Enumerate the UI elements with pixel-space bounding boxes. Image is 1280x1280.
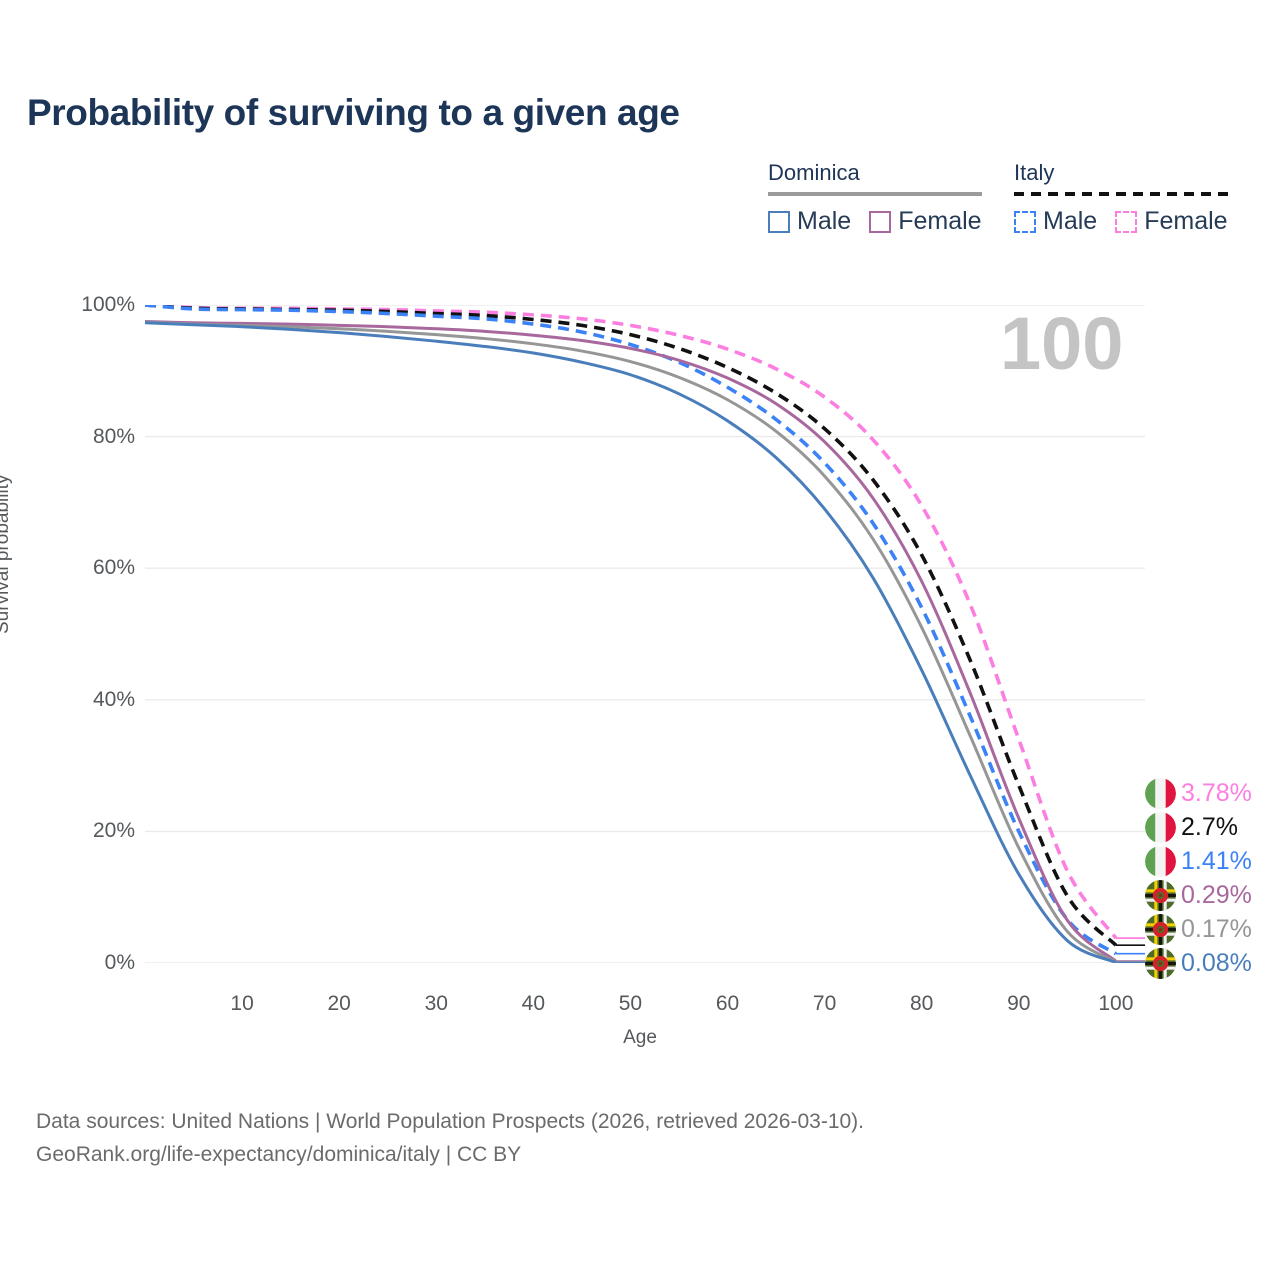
legend-group-italy: Italy Male Female <box>1014 160 1228 236</box>
series-line-dominica-male <box>145 323 1116 963</box>
series-end-labels: 3.78%2.7%1.41%0.29%0.17%0.08% <box>1145 770 1280 985</box>
legend-item-dominica-female[interactable]: Female <box>869 207 981 236</box>
series-line-italy-total <box>145 305 1116 945</box>
legend-swatch-icon-italy-female <box>1115 211 1137 233</box>
x-axis-tick-label: 60 <box>716 992 739 1016</box>
dominica-flag-icon <box>1145 880 1176 911</box>
x-axis-tick-label: 30 <box>425 992 448 1016</box>
y-axis-tick-label: 40% <box>25 688 135 712</box>
y-axis-tick-label: 80% <box>25 425 135 449</box>
page-title: Probability of surviving to a given age <box>27 92 680 134</box>
x-axis-tick-label: 10 <box>230 992 253 1016</box>
legend-item-label: Female <box>898 207 981 236</box>
x-axis-tick-label: 100 <box>1098 992 1133 1016</box>
end-label-value: 0.17% <box>1181 915 1252 944</box>
legend-group-dominica: Dominica Male Female <box>768 160 982 236</box>
legend-swatch-icon-dominica-female <box>869 211 891 233</box>
italy-flag-icon <box>1145 812 1176 843</box>
end-label-row: 0.29% <box>1145 878 1252 912</box>
y-axis-tick-label: 0% <box>25 951 135 975</box>
leader-line-dominica-female <box>1116 895 1145 961</box>
footer-line-sources: Data sources: United Nations | World Pop… <box>36 1106 864 1139</box>
x-axis-tick-label: 40 <box>522 992 545 1016</box>
leader-line-italy-total <box>1116 827 1145 945</box>
end-label-value: 0.08% <box>1181 949 1252 978</box>
end-label-value: 2.7% <box>1181 813 1238 842</box>
end-label-row: 2.7% <box>1145 810 1238 844</box>
legend-country-label-dominica: Dominica <box>768 160 982 189</box>
legend-swatch-icon-dominica-male <box>768 211 790 233</box>
end-label-row: 0.17% <box>1145 912 1252 946</box>
end-label-value: 3.78% <box>1181 779 1252 808</box>
italy-flag-icon <box>1145 846 1176 877</box>
leader-line-dominica-male <box>1116 963 1145 964</box>
legend-swatch-icon-italy-male <box>1014 211 1036 233</box>
dominica-flag-icon <box>1145 914 1176 945</box>
series-line-italy-male <box>145 305 1116 954</box>
italy-flag-icon <box>1145 778 1176 809</box>
legend-item-label: Male <box>1043 207 1097 236</box>
x-axis-tick-label: 80 <box>910 992 933 1016</box>
legend-item-dominica-male[interactable]: Male <box>768 207 851 236</box>
legend-rule-italy <box>1014 192 1228 196</box>
end-label-value: 1.41% <box>1181 847 1252 876</box>
watermark-label: 100 <box>1000 307 1123 381</box>
end-label-row: 0.08% <box>1145 946 1252 980</box>
series-line-italy-female <box>145 305 1116 938</box>
x-axis-title: Age <box>0 1027 1280 1049</box>
end-label-value: 0.29% <box>1181 881 1252 910</box>
x-axis-tick-label: 20 <box>327 992 350 1016</box>
legend-item-italy-male[interactable]: Male <box>1014 207 1097 236</box>
legend-item-label: Female <box>1144 207 1227 236</box>
footer-note: Data sources: United Nations | World Pop… <box>36 1106 864 1171</box>
y-axis-tick-label: 100% <box>25 293 135 317</box>
dominica-flag-icon <box>1145 948 1176 979</box>
leader-line-italy-female <box>1116 793 1145 938</box>
x-axis-tick-label: 70 <box>813 992 836 1016</box>
y-axis-tick-label: 60% <box>25 556 135 580</box>
y-axis-tick-label: 20% <box>25 819 135 843</box>
x-axis-tick-label: 90 <box>1007 992 1030 1016</box>
plot-area: 100 <box>145 305 1145 963</box>
chart-page: Probability of surviving to a given age … <box>0 0 1280 1280</box>
end-label-row: 3.78% <box>1145 776 1252 810</box>
x-axis-tick-label: 50 <box>619 992 642 1016</box>
leader-line-italy-male <box>1116 861 1145 954</box>
survival-curves-plot <box>145 305 1145 963</box>
end-label-row: 1.41% <box>1145 844 1252 878</box>
footer-line-attribution: GeoRank.org/life-expectancy/dominica/ita… <box>36 1139 864 1172</box>
legend-country-label-italy: Italy <box>1014 160 1228 189</box>
series-line-dominica-total <box>145 322 1116 962</box>
legend-item-label: Male <box>797 207 851 236</box>
legend-item-italy-female[interactable]: Female <box>1115 207 1227 236</box>
y-axis-title: Survival probability <box>0 475 14 634</box>
chart-legend: Dominica Male Female Italy Male <box>760 160 1260 242</box>
series-line-dominica-female <box>145 321 1116 961</box>
legend-rule-dominica <box>768 192 982 196</box>
